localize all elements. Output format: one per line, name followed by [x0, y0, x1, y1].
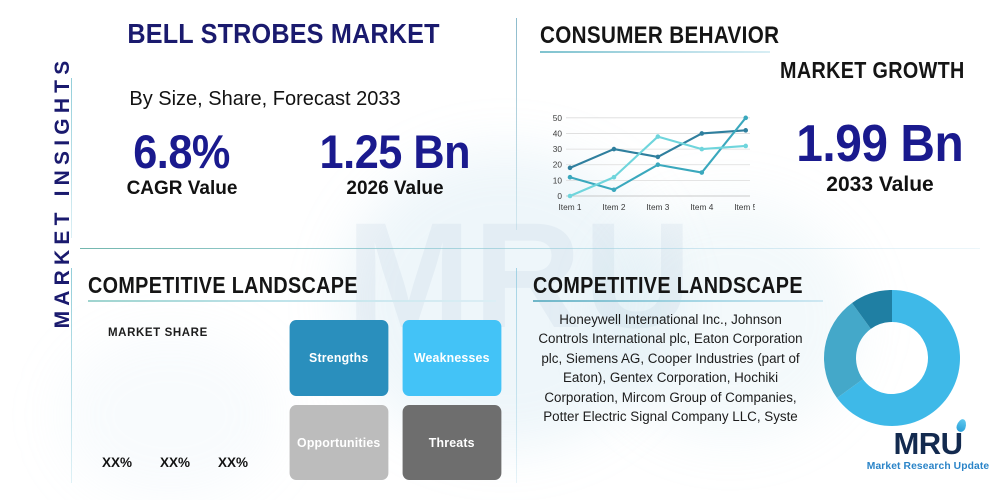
- chart-series-line: [570, 118, 746, 190]
- section-heading-competitive-landscape-left: COMPETITIVE LANDSCAPE: [88, 272, 358, 299]
- chart-data-point: [656, 134, 661, 139]
- market-share-donut-chart: [822, 288, 962, 428]
- chart-category-label: Item 4: [690, 202, 713, 212]
- page-subtitle: By Size, Share, Forecast 2033: [100, 88, 430, 111]
- kpi-forecast-year-value-wrap: 1.99 Bn: [770, 118, 990, 171]
- market-share-bar-label: XX%: [160, 455, 190, 470]
- chart-data-point: [568, 175, 573, 180]
- logo-mark-label: MRU: [893, 426, 962, 461]
- divider-vertical-middle-top: [516, 18, 517, 230]
- chart-y-tick-label: 40: [553, 128, 563, 138]
- market-share-bar: XX%: [158, 455, 192, 475]
- market-share-bar-label: XX%: [102, 455, 132, 470]
- chart-category-labels: Item 1Item 2Item 3Item 4Item 5: [558, 202, 755, 212]
- kpi-cagr-value-wrap: 6.8%: [96, 128, 268, 176]
- donut-segments-group: [824, 290, 960, 426]
- chart-y-tick-label: 0: [557, 191, 562, 201]
- chart-y-tick-labels: 01020304050: [553, 113, 563, 201]
- chart-series-group: [568, 116, 748, 199]
- kpi-base-year-value-wrap: 1.25 Bn: [300, 128, 490, 176]
- chart-y-tick-label: 50: [553, 113, 563, 123]
- chart-data-point: [568, 166, 573, 171]
- page-title-text: BELL STROBES MARKET: [127, 18, 439, 50]
- kpi-forecast-year: 1.99 Bn 2033 Value: [770, 118, 990, 197]
- market-share-bar: XX%: [216, 455, 250, 475]
- kpi-cagr-label: CAGR Value: [96, 178, 268, 200]
- section-underline-competitive-landscape-left: [88, 300, 496, 302]
- chart-data-point: [699, 131, 704, 136]
- kpi-forecast-year-label: 2033 Value: [770, 173, 990, 197]
- kpi-base-year-value: 1.25 Bn: [320, 128, 471, 176]
- divider-vertical-middle-bottom: [516, 268, 517, 483]
- chart-data-point: [699, 147, 704, 152]
- chart-category-label: Item 5: [734, 202, 755, 212]
- consumer-behavior-line-chart: 01020304050 Item 1Item 2Item 3Item 4Item…: [540, 104, 755, 219]
- swot-matrix: StrengthsWeaknessesOpportunitiesThreats: [287, 320, 503, 480]
- chart-data-point: [656, 155, 661, 160]
- kpi-base-year-label: 2026 Value: [300, 178, 490, 200]
- chart-category-label: Item 3: [646, 202, 669, 212]
- market-share-bar-chart: XX%XX%XX%: [100, 345, 280, 475]
- market-share-label: MARKET SHARE: [108, 327, 208, 339]
- swot-box-opportunities[interactable]: Opportunities: [290, 405, 388, 481]
- infographic-canvas: MRU MARKET INSIGHTS BELL STROBES MARKET …: [0, 0, 1000, 500]
- swot-box-strengths[interactable]: Strengths: [290, 320, 388, 396]
- page-title: BELL STROBES MARKET: [110, 18, 420, 50]
- logo-mark-text: MRU: [893, 428, 962, 459]
- chart-y-tick-label: 20: [553, 160, 563, 170]
- swot-box-weaknesses[interactable]: Weaknesses: [402, 320, 500, 396]
- chart-data-point: [743, 128, 748, 133]
- swot-box-threats[interactable]: Threats: [402, 405, 500, 481]
- chart-data-point: [699, 170, 704, 175]
- chart-data-point: [612, 175, 617, 180]
- market-share-bar: XX%: [100, 455, 134, 475]
- chart-data-point: [743, 116, 748, 121]
- kpi-cagr: 6.8% CAGR Value: [96, 128, 268, 200]
- section-heading-market-growth: MARKET GROWTH: [780, 57, 965, 84]
- brand-logo: MRU Market Research Update: [862, 428, 994, 472]
- chart-data-point: [612, 147, 617, 152]
- chart-y-tick-label: 30: [553, 144, 563, 154]
- company-list-text: Honeywell International Inc., Johnson Co…: [533, 310, 808, 427]
- section-underline-competitive-landscape-right: [533, 300, 823, 302]
- section-underline-consumer-behavior: [540, 51, 770, 53]
- side-label-market-insights: MARKET INSIGHTS: [51, 52, 75, 332]
- chart-category-label: Item 2: [602, 202, 625, 212]
- donut-chart-svg: [822, 288, 962, 428]
- kpi-cagr-value: 6.8%: [134, 128, 231, 176]
- section-heading-consumer-behavior: CONSUMER BEHAVIOR: [540, 22, 779, 50]
- chart-category-label: Item 1: [558, 202, 581, 212]
- market-share-bar-label: XX%: [218, 455, 248, 470]
- chart-data-point: [656, 162, 661, 167]
- divider-horizontal: [80, 248, 980, 249]
- section-heading-competitive-landscape-right: COMPETITIVE LANDSCAPE: [533, 272, 803, 299]
- chart-data-point: [568, 194, 573, 199]
- chart-data-point: [612, 187, 617, 192]
- chart-y-tick-label: 10: [553, 175, 563, 185]
- kpi-base-year: 1.25 Bn 2026 Value: [300, 128, 490, 200]
- logo-tagline: Market Research Update: [862, 461, 994, 472]
- kpi-forecast-year-value: 1.99 Bn: [797, 118, 964, 171]
- chart-data-point: [743, 144, 748, 149]
- line-chart-svg: 01020304050 Item 1Item 2Item 3Item 4Item…: [540, 104, 755, 219]
